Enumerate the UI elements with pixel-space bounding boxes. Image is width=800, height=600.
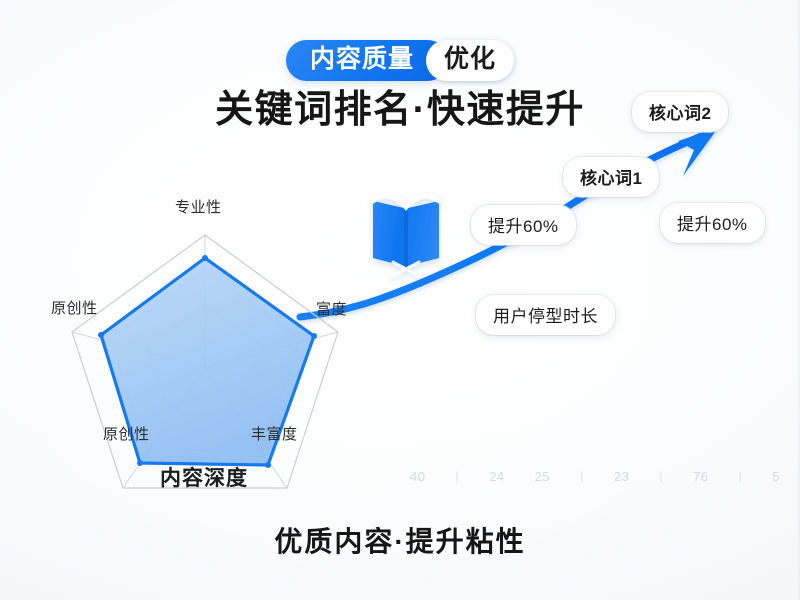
radar-label-left: 原创性 bbox=[51, 297, 98, 318]
axis-tick: 25 bbox=[535, 469, 550, 484]
footer-caption: 优质内容·提升粘性 bbox=[0, 520, 800, 560]
axis-tick-mark: | bbox=[659, 469, 663, 483]
radar-label-right: 富度 bbox=[316, 298, 347, 319]
badge-secondary-label: 优化 bbox=[426, 40, 514, 81]
radar-caption: 内容深度 bbox=[160, 462, 248, 492]
poster-canvas: 专业性 原创性 富度 原创性 丰富度 bbox=[0, 0, 800, 600]
axis-tick-mark: | bbox=[580, 469, 584, 483]
badge-primary-label: 内容质量 bbox=[286, 40, 448, 81]
axis-tick: 76 bbox=[693, 469, 708, 484]
axis-tick-mark: | bbox=[456, 469, 460, 483]
tag-lift-left[interactable]: 提升60% bbox=[471, 205, 576, 245]
bottom-axis-ticks: 40 | 24 25 | 23 | 76 | 5 bbox=[410, 463, 780, 489]
radar-label-bottom-left: 原创性 bbox=[103, 423, 150, 444]
radar-chart bbox=[55, 225, 355, 455]
axis-tick-mark: | bbox=[739, 469, 743, 483]
tag-dwell-time[interactable]: 用户停型时长 bbox=[476, 295, 615, 335]
tag-core-keyword-1[interactable]: 核心词1 bbox=[563, 157, 659, 197]
badge: 内容质量 优化 bbox=[0, 40, 800, 81]
axis-tick: 40 bbox=[410, 469, 425, 484]
axis-tick: 24 bbox=[489, 469, 504, 484]
open-book-icon bbox=[371, 186, 441, 272]
tag-core-keyword-2[interactable]: 核心词2 bbox=[632, 92, 728, 132]
axis-tick: 5 bbox=[772, 469, 780, 484]
radar-label-top: 专业性 bbox=[175, 196, 222, 217]
radar-label-bottom-right: 丰富度 bbox=[251, 423, 298, 444]
tag-lift-right[interactable]: 提升60% bbox=[660, 203, 765, 243]
axis-tick: 23 bbox=[614, 469, 629, 484]
